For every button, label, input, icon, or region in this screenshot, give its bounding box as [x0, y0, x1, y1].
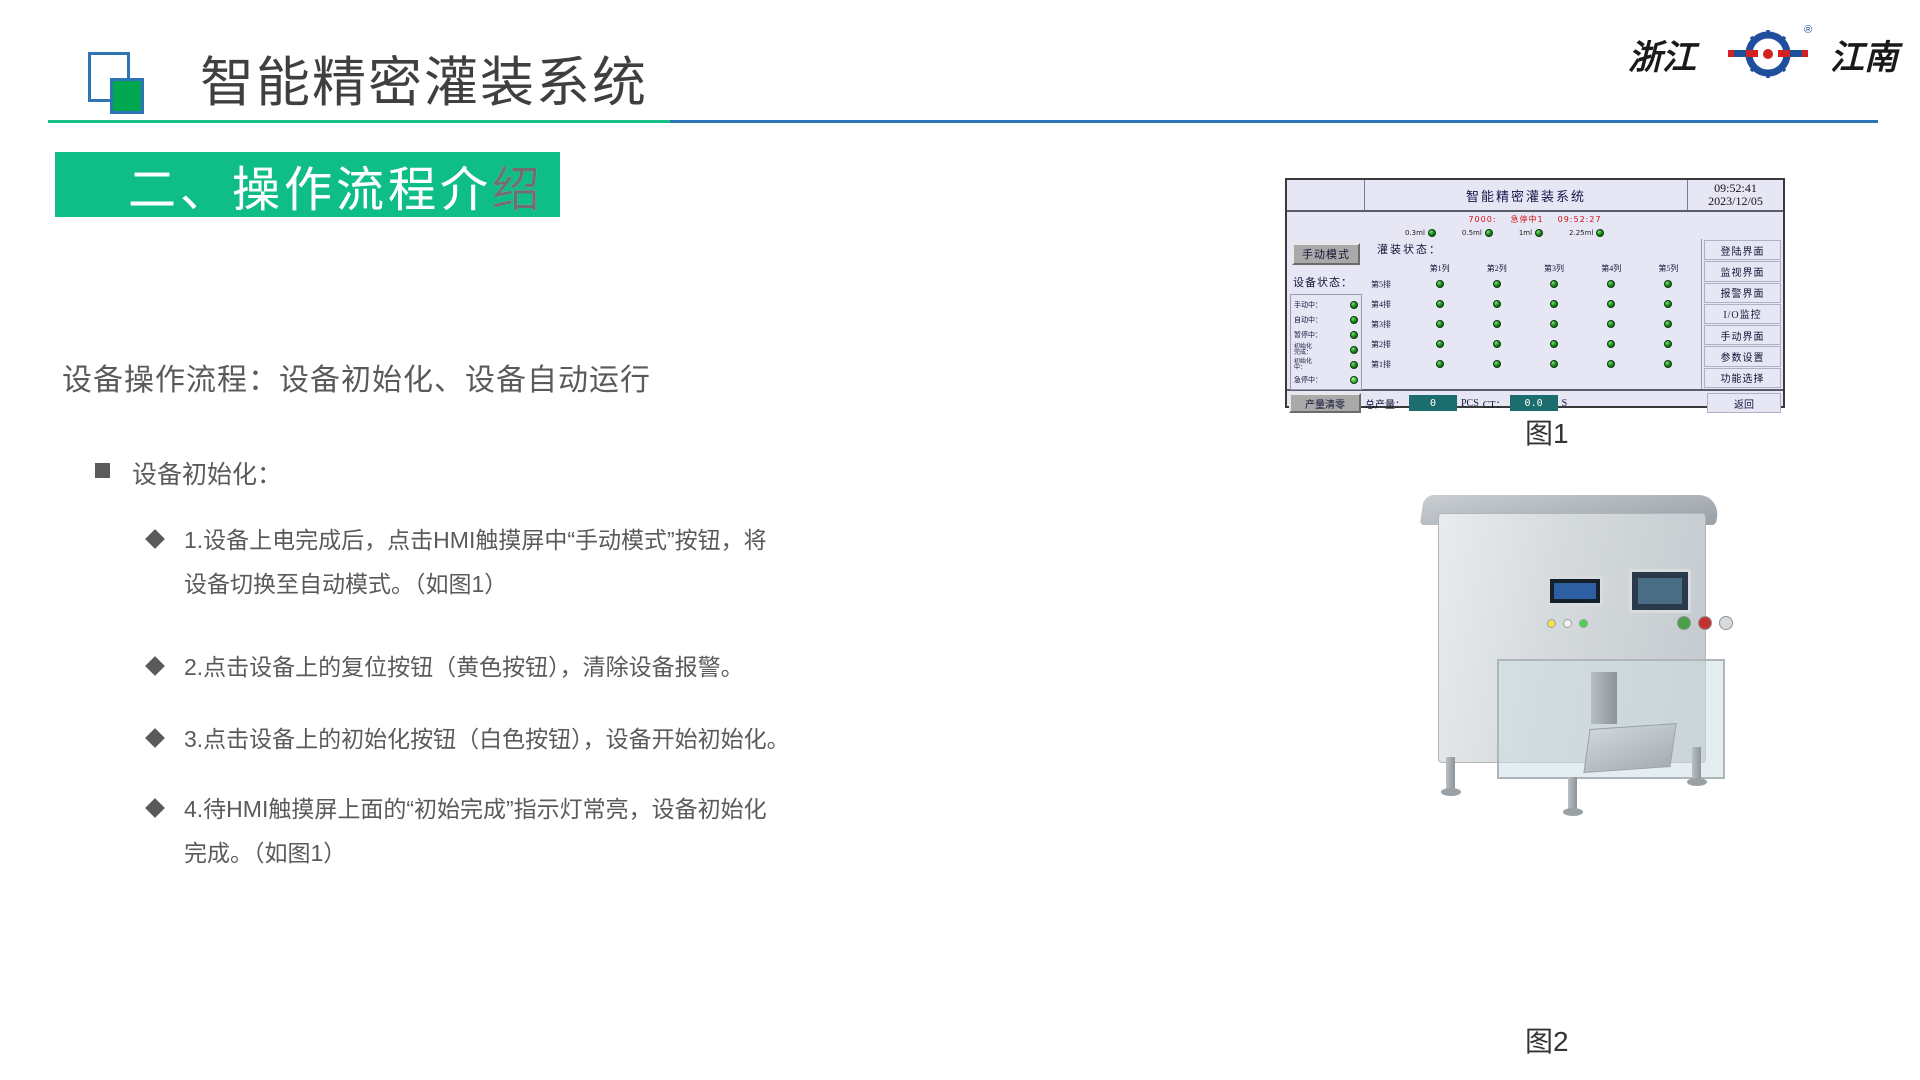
fill-led-icon	[1493, 300, 1501, 308]
cycle-time-value: 0.0	[1510, 395, 1558, 411]
volume-label: 2.25ml	[1569, 229, 1593, 237]
fill-cell	[1411, 360, 1468, 368]
fill-cell	[1468, 360, 1525, 368]
fill-led-icon	[1436, 360, 1444, 368]
fill-led-icon	[1607, 360, 1615, 368]
device-state-row: 初始化 中：	[1294, 357, 1358, 372]
row-header: 第5排	[1371, 279, 1411, 290]
machine-leg	[1568, 777, 1577, 811]
fill-cell	[1411, 340, 1468, 348]
column-header: 第1列	[1411, 263, 1468, 274]
device-state-label-text: 手动中：	[1294, 300, 1322, 310]
machine-panel-screen	[1554, 583, 1596, 599]
fill-cell	[1411, 300, 1468, 308]
machine-leg	[1446, 757, 1455, 791]
cycle-time-unit: S	[1562, 398, 1568, 409]
fill-led-icon	[1607, 320, 1615, 328]
list-item-text: 4.待HMI触摸屏上面的“初始完成”指示灯常亮，设备初始化 完成。（如图1）	[184, 787, 767, 875]
volume-led-icon	[1535, 229, 1543, 237]
gear-emblem-icon	[1724, 28, 1812, 80]
volume-indicator: 2.25ml	[1569, 229, 1604, 237]
machine-control-panel-icon	[1547, 576, 1603, 606]
fill-cell	[1468, 320, 1525, 328]
total-output-label: 总产量：	[1365, 396, 1405, 411]
fill-cell	[1525, 360, 1582, 368]
section-title: 二、操作流程介绍	[128, 152, 544, 217]
hmi-header-bar: 智能精密灌装系统 09:52:41 2023/12/05	[1287, 180, 1783, 212]
machine-white-button-icon	[1563, 619, 1572, 628]
device-state-led-icon	[1350, 316, 1358, 324]
machine-estop-button-icon	[1698, 616, 1712, 630]
list-item-text: 2.点击设备上的复位按钮（黄色按钮），清除设备报警。	[184, 645, 744, 689]
fill-cell	[1583, 320, 1640, 328]
diamond-bullet-icon	[145, 529, 165, 549]
menu-button-parameters[interactable]: 参数设置	[1704, 346, 1781, 366]
fill-cell	[1583, 300, 1640, 308]
list-item: 1.设备上电完成后，点击HMI触摸屏中“手动模式”按钮，将 设备切换至自动模式。…	[148, 518, 888, 606]
machine-photo-figure2	[1400, 485, 1760, 815]
back-button[interactable]: 返回	[1707, 393, 1781, 413]
hmi-alarm-text: 急停中1	[1511, 214, 1544, 225]
device-state-list: 手动中： 自动中： 暂停中： 初始化 完成：	[1290, 294, 1362, 390]
volume-label: 0.3ml	[1405, 229, 1425, 237]
row-header: 第3排	[1371, 319, 1411, 330]
column-header: 第3列	[1525, 263, 1582, 274]
volume-indicator: 1ml	[1519, 229, 1543, 237]
fill-led-icon	[1493, 340, 1501, 348]
hmi-alarm-line: 7000: 急停中1 09:52:27	[1287, 212, 1783, 226]
list-item: 4.待HMI触摸屏上面的“初始完成”指示灯常亮，设备初始化 完成。（如图1）	[148, 787, 888, 875]
column-header: 第5列	[1640, 263, 1697, 274]
slide-root: 智能精密灌装系统 浙江 ® 江南 二、操作流程介	[0, 0, 1920, 1080]
production-reset-button[interactable]: 产量清零	[1289, 393, 1361, 413]
device-state-row: 自动中：	[1294, 312, 1358, 327]
menu-button-functions[interactable]: 功能选择	[1704, 368, 1781, 388]
logo-filled-square-icon	[110, 78, 144, 114]
volume-indicator: 0.3ml	[1405, 229, 1436, 237]
fill-cell	[1411, 320, 1468, 328]
fill-led-icon	[1607, 280, 1615, 288]
hmi-alarm-time: 09:52:27	[1558, 215, 1602, 224]
machine-main-button-row	[1677, 616, 1733, 630]
list-item-text: 1.设备上电完成后，点击HMI触摸屏中“手动模式”按钮，将 设备切换至自动模式。…	[184, 518, 767, 606]
fill-cell	[1525, 300, 1582, 308]
brand-text-left: 浙江	[1628, 30, 1696, 79]
machine-leg	[1692, 747, 1701, 781]
menu-button-monitor[interactable]: 监视界面	[1704, 261, 1781, 281]
fill-cell	[1640, 320, 1697, 328]
diamond-bullet-icon	[145, 728, 165, 748]
fill-led-icon	[1607, 300, 1615, 308]
fill-led-icon	[1493, 360, 1501, 368]
hmi-fill-status-panel: 灌装状态： 第1列 第2列 第3列 第4列 第5列 第5排	[1365, 239, 1701, 389]
volume-led-icon	[1428, 229, 1436, 237]
brand-logo: 浙江 ® 江南	[1628, 22, 1898, 84]
fill-status-label: 灌装状态：	[1371, 241, 1697, 257]
device-state-label-text: 自动中：	[1294, 315, 1322, 325]
total-output-value: 0	[1409, 395, 1457, 411]
fill-cell	[1640, 300, 1697, 308]
fill-cell	[1640, 280, 1697, 288]
hmi-volume-indicators: 0.3ml 0.5ml 1ml 2.25ml	[1287, 226, 1783, 239]
table-row: 第5排	[1371, 274, 1697, 294]
device-state-row: 初始化 完成：	[1294, 342, 1358, 357]
machine-start-button-icon	[1677, 616, 1691, 630]
list-item: 2.点击设备上的复位按钮（黄色按钮），清除设备报警。	[148, 645, 888, 689]
fill-cell	[1525, 280, 1582, 288]
volume-label: 1ml	[1519, 229, 1532, 237]
machine-hmi-display	[1638, 578, 1682, 604]
diamond-bullet-icon	[145, 798, 165, 818]
fill-led-icon	[1436, 320, 1444, 328]
list-item-text: 3.点击设备上的初始化按钮（白色按钮），设备开始初始化。	[184, 717, 790, 761]
hmi-screenshot-figure1: 智能精密灌装系统 09:52:41 2023/12/05 7000: 急停中1 …	[1285, 178, 1785, 408]
brand-text-right: 江南	[1830, 30, 1898, 79]
hmi-header-blank-cell	[1287, 180, 1365, 210]
company-logo-mark-icon	[88, 52, 144, 108]
device-state-led-icon	[1350, 361, 1358, 369]
fill-led-icon	[1550, 360, 1558, 368]
hmi-date: 2023/12/05	[1708, 195, 1763, 208]
machine-hmi-screen-icon	[1629, 569, 1691, 613]
machine-reset-button-icon	[1719, 616, 1733, 630]
table-row: 第2排	[1371, 334, 1697, 354]
fill-led-icon	[1436, 340, 1444, 348]
row-header: 第2排	[1371, 339, 1411, 350]
device-state-label: 设备状态：	[1290, 271, 1362, 294]
volume-led-icon	[1485, 229, 1493, 237]
device-state-label-text: 初始化 完成：	[1294, 344, 1312, 356]
header-divider	[48, 120, 1878, 123]
hmi-left-column: 手动模式 设备状态： 手动中： 自动中： 暂停中：	[1287, 239, 1365, 389]
fill-led-icon	[1550, 320, 1558, 328]
fill-led-icon	[1550, 300, 1558, 308]
device-state-led-icon	[1350, 346, 1358, 354]
device-state-row: 手动中：	[1294, 297, 1358, 312]
column-header: 第2列	[1468, 263, 1525, 274]
bullet-level1-label: 设备初始化：	[132, 455, 282, 491]
fill-led-icon	[1607, 340, 1615, 348]
menu-button-alarm[interactable]: 报警界面	[1704, 283, 1781, 303]
fill-cell	[1411, 280, 1468, 288]
total-output-unit: PCS	[1461, 398, 1479, 409]
menu-button-io[interactable]: I/O监控	[1704, 304, 1781, 324]
device-state-led-icon	[1350, 301, 1358, 309]
diamond-bullet-icon	[145, 656, 165, 676]
machine-yellow-button-icon	[1547, 619, 1556, 628]
machine-foot	[1687, 778, 1707, 786]
fill-led-icon	[1550, 280, 1558, 288]
volume-led-icon	[1596, 229, 1604, 237]
table-row: 第3排	[1371, 314, 1697, 334]
section-label: 操作流程介	[232, 150, 492, 220]
device-state-label-text: 初始化 中：	[1294, 359, 1312, 371]
cycle-time-label: CT：	[1483, 396, 1506, 411]
device-state-led-icon	[1350, 331, 1358, 339]
fill-led-icon	[1436, 280, 1444, 288]
machine-green-button-icon	[1579, 619, 1588, 628]
volume-indicator: 0.5ml	[1462, 229, 1493, 237]
fill-cell	[1468, 280, 1525, 288]
machine-vial-tray	[1583, 723, 1676, 773]
fill-led-icon	[1493, 320, 1501, 328]
fill-cell	[1525, 340, 1582, 348]
fill-led-icon	[1664, 360, 1672, 368]
device-state-led-icon	[1350, 376, 1358, 384]
page-title: 智能精密灌装系统	[200, 38, 648, 117]
volume-label: 0.5ml	[1462, 229, 1482, 237]
table-row: 第1排	[1371, 354, 1697, 374]
fill-led-icon	[1664, 340, 1672, 348]
manual-mode-button[interactable]: 手动模式	[1292, 243, 1360, 265]
machine-body	[1438, 513, 1706, 763]
fill-led-icon	[1436, 300, 1444, 308]
menu-button-manual[interactable]: 手动界面	[1704, 325, 1781, 345]
hmi-title: 智能精密灌装系统	[1365, 180, 1687, 210]
fill-led-icon	[1550, 340, 1558, 348]
bullet-level1-initialization: 设备初始化：	[95, 455, 282, 491]
hmi-menu-buttons: 登陆界面 监视界面 报警界面 I/O监控 手动界面 参数设置 功能选择	[1701, 239, 1783, 389]
fill-cell	[1640, 360, 1697, 368]
hmi-clock: 09:52:41 2023/12/05	[1687, 180, 1783, 210]
fill-cell	[1468, 340, 1525, 348]
machine-foot	[1441, 788, 1461, 796]
fill-led-icon	[1664, 300, 1672, 308]
fill-led-icon	[1664, 320, 1672, 328]
fill-cell	[1583, 280, 1640, 288]
lead-paragraph: 设备操作流程：设备初始化、设备自动运行	[62, 355, 651, 399]
row-header: 第1排	[1371, 359, 1411, 370]
device-state-label-text: 急停中：	[1294, 375, 1322, 385]
row-header: 第4排	[1371, 299, 1411, 310]
fill-grid-column-headers: 第1列 第2列 第3列 第4列 第5列	[1371, 263, 1697, 274]
machine-indicator-row	[1547, 619, 1588, 628]
fill-cell	[1525, 320, 1582, 328]
fill-cell	[1583, 360, 1640, 368]
list-item: 3.点击设备上的初始化按钮（白色按钮），设备开始初始化。	[148, 717, 888, 761]
device-state-label-text: 暂停中：	[1294, 330, 1322, 340]
table-row: 第4排	[1371, 294, 1697, 314]
figure1-caption: 图1	[1525, 412, 1569, 452]
device-state-row: 暂停中：	[1294, 327, 1358, 342]
registered-mark-icon: ®	[1804, 24, 1812, 36]
section-number: 二、	[128, 150, 232, 220]
machine-nozzle-head	[1591, 672, 1617, 724]
menu-button-login[interactable]: 登陆界面	[1704, 240, 1781, 260]
fill-cell	[1583, 340, 1640, 348]
column-header: 第4列	[1583, 263, 1640, 274]
fill-cell	[1640, 340, 1697, 348]
fill-led-icon	[1664, 280, 1672, 288]
hmi-alarm-code: 7000:	[1468, 215, 1496, 224]
fill-cell	[1468, 300, 1525, 308]
fill-led-icon	[1493, 280, 1501, 288]
figure2-caption: 图2	[1525, 1020, 1569, 1060]
device-state-row: 急停中：	[1294, 372, 1358, 387]
section-overflow-char: 绍	[492, 150, 544, 220]
hmi-main-area: 手动模式 设备状态： 手动中： 自动中： 暂停中：	[1287, 239, 1783, 389]
machine-foot	[1563, 808, 1583, 816]
square-bullet-icon	[95, 463, 110, 478]
